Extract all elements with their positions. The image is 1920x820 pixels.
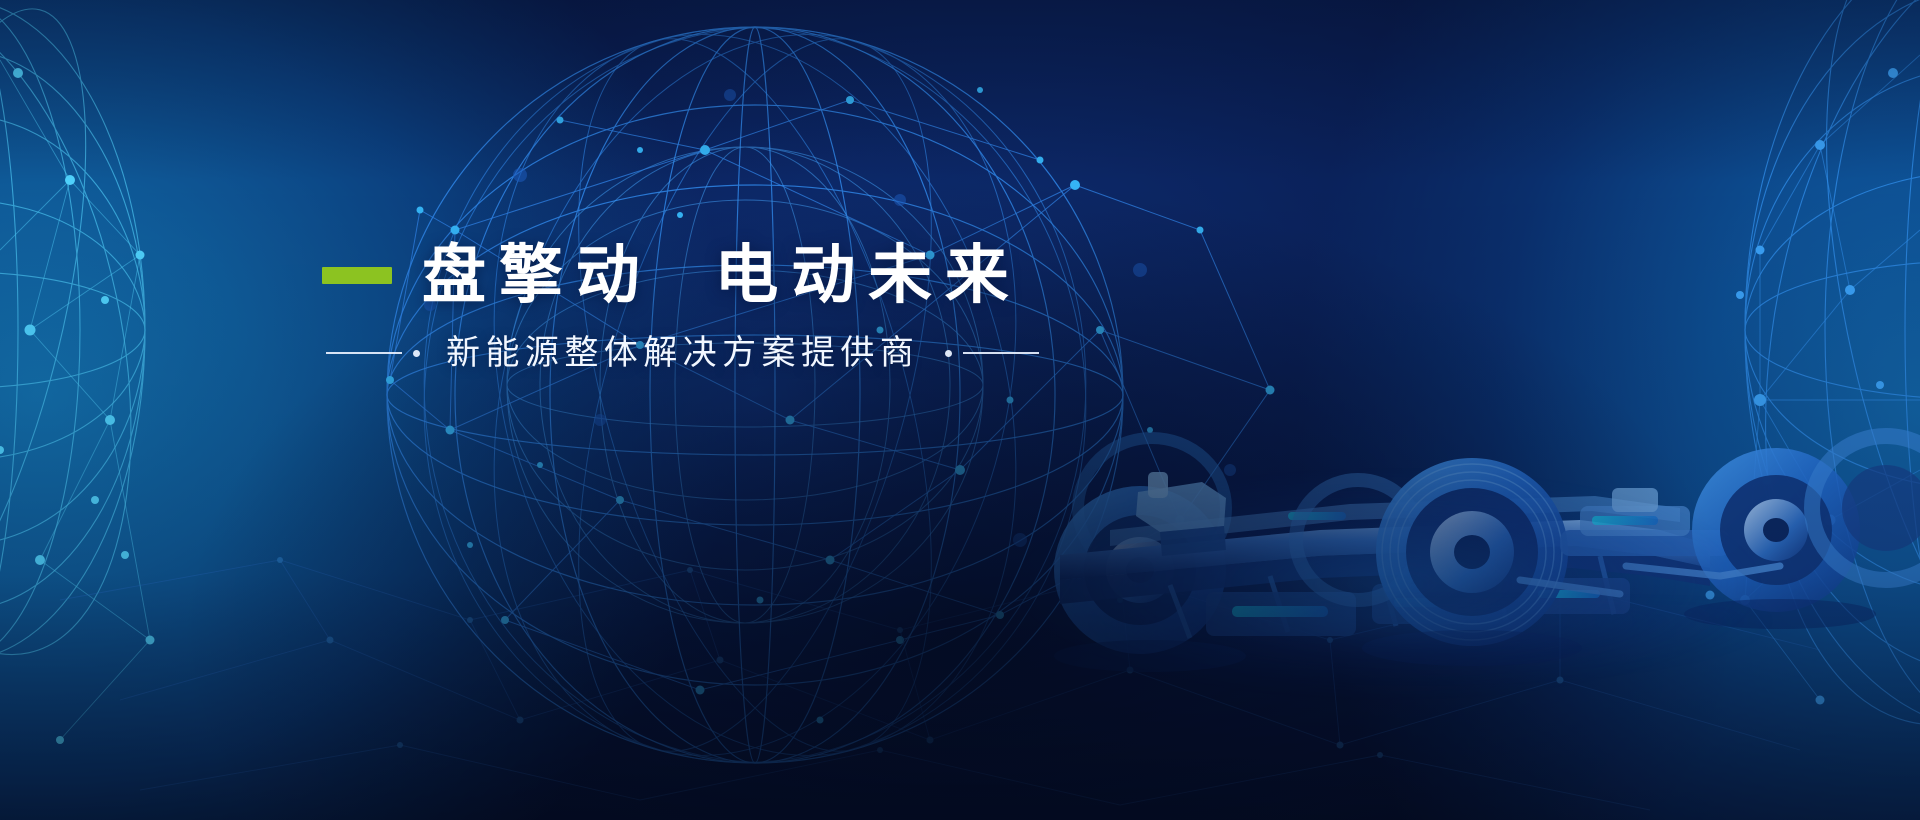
headline-left: 盘擎动 <box>422 243 652 307</box>
decoration-line <box>963 352 1039 354</box>
decoration-dot-icon <box>945 350 952 357</box>
hero-copy: 盘擎动 电动未来 新能源整体解决方案提供商 <box>322 236 1182 370</box>
headline-right: 电动未来 <box>714 243 1021 307</box>
subtitle-left-decoration <box>326 350 420 357</box>
vignette-overlay <box>0 0 1920 820</box>
headline-row: 盘擎动 电动未来 <box>322 236 1182 314</box>
subtitle-row: 新能源整体解决方案提供商 <box>326 336 1182 370</box>
subtitle-text: 新能源整体解决方案提供商 <box>446 336 919 370</box>
subtitle-right-decoration <box>945 350 1039 357</box>
green-dash-icon <box>322 267 392 284</box>
hero-banner: 盘擎动 电动未来 新能源整体解决方案提供商 <box>0 0 1920 820</box>
decoration-line <box>326 352 402 354</box>
decoration-dot-icon <box>413 350 420 357</box>
